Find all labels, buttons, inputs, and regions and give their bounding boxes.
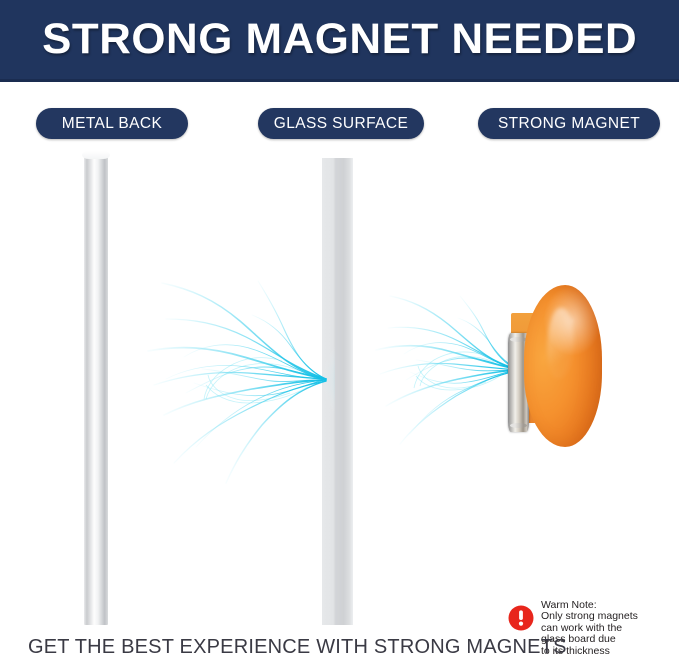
footer-caption: GET THE BEST EXPERIENCE WITH STRONG MAGN…: [28, 636, 567, 659]
label-pill-glass-surface-text: GLASS SURFACE: [274, 115, 408, 133]
page-title: STRONG MAGNET NEEDED: [42, 18, 637, 61]
orange-magnet: [500, 285, 600, 450]
label-pill-strong-magnet: STRONG MAGNET: [478, 108, 660, 139]
metal-back-bar: [84, 155, 108, 625]
label-pill-glass-surface: GLASS SURFACE: [258, 108, 424, 139]
label-pill-strong-magnet-text: STRONG MAGNET: [498, 115, 640, 133]
glass-surface-bar: [322, 158, 353, 625]
magnetic-field-left: [140, 275, 335, 485]
label-pill-metal-back: METAL BACK: [36, 108, 188, 139]
magnet-orange-dome: [524, 285, 602, 447]
exclamation-circle-icon: [508, 605, 534, 631]
label-pill-metal-back-text: METAL BACK: [62, 115, 162, 133]
header-banner: STRONG MAGNET NEEDED: [0, 0, 679, 82]
